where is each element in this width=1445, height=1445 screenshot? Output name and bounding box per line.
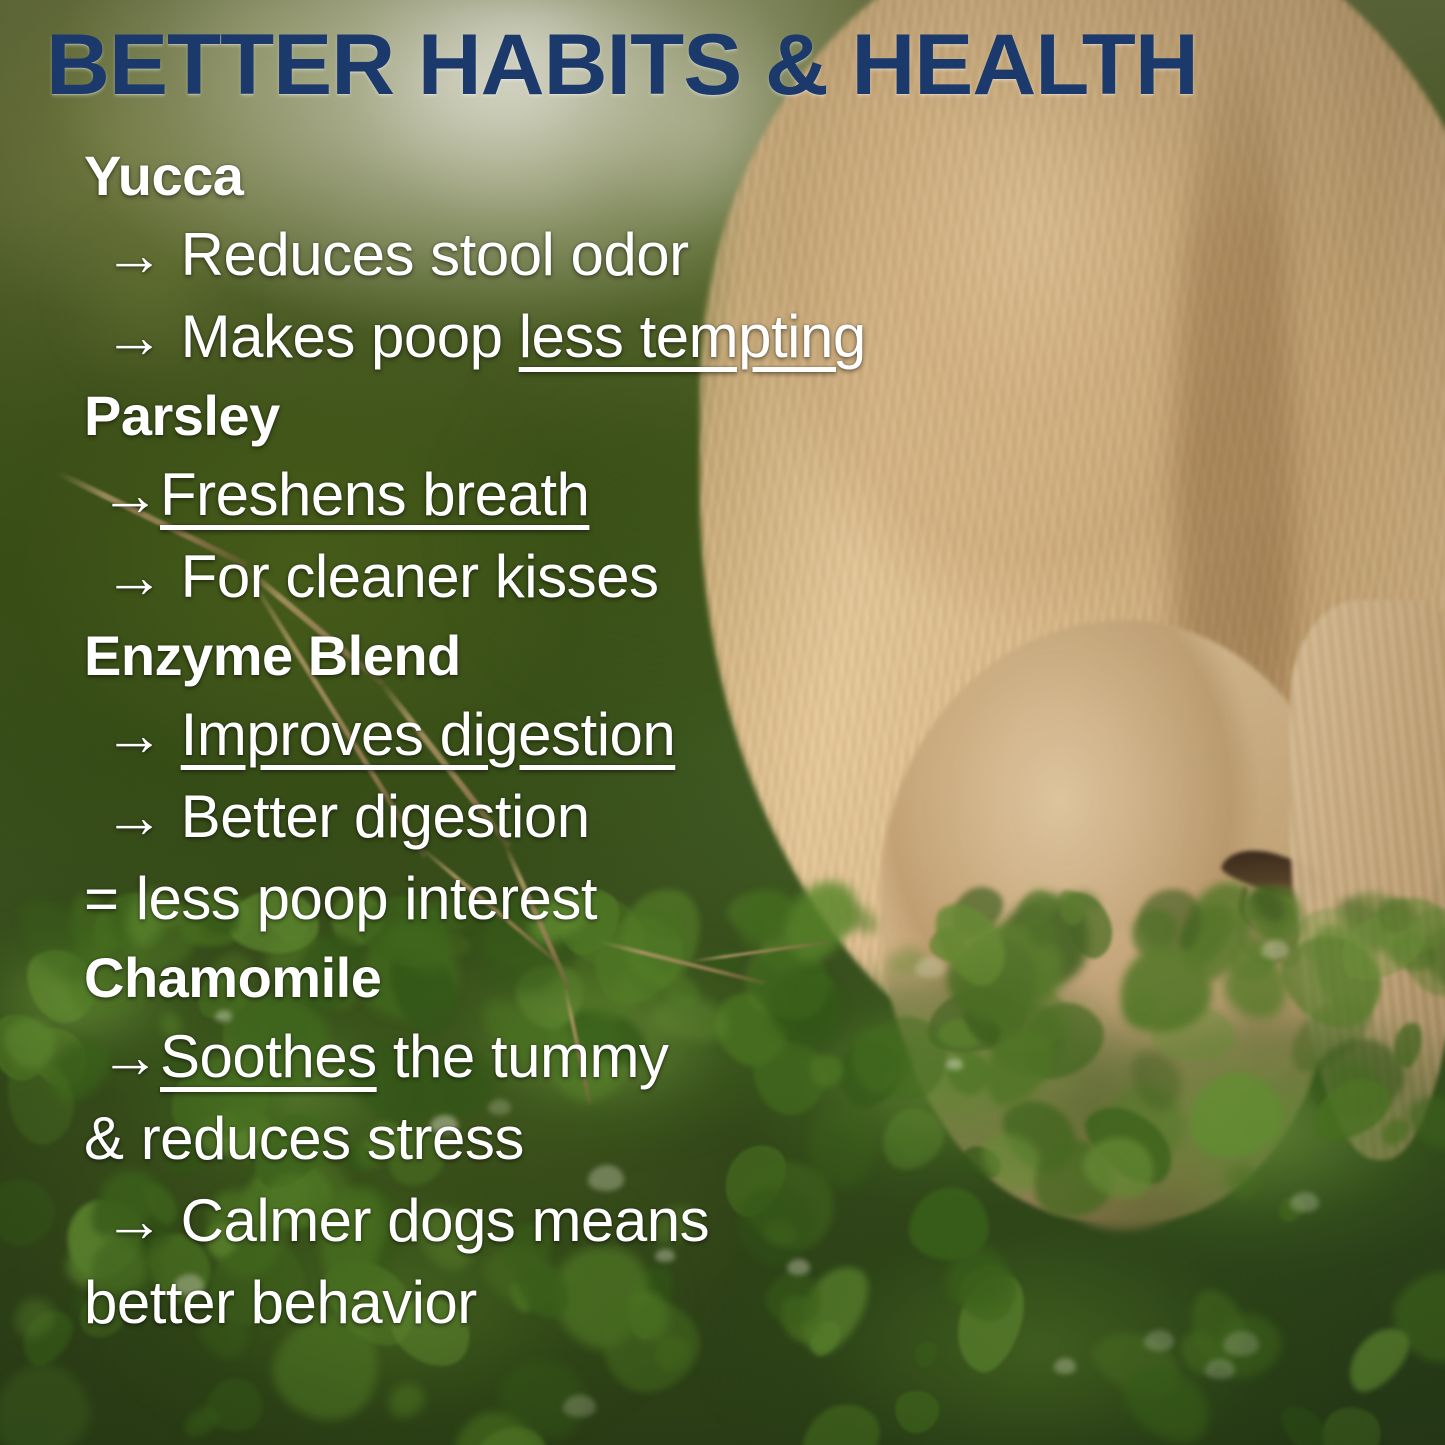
benefit-line: → Reduces stool odor: [0, 214, 1445, 296]
benefit-list: Yucca→ Reduces stool odor→ Makes poop le…: [0, 138, 1445, 1344]
poster-canvas: BETTER HABITS & HEALTH Yucca→ Reduces st…: [0, 0, 1445, 1445]
arrow-icon: →: [104, 221, 181, 288]
line-text: Calmer dogs means: [181, 1187, 709, 1254]
line-text: better behavior: [84, 1269, 477, 1336]
line-text: Better digestion: [181, 783, 590, 850]
arrow-icon: →: [100, 461, 160, 528]
ingredient-heading: Enzyme Blend: [0, 618, 1445, 694]
line-text: Makes poop: [181, 303, 519, 370]
bullet-marker: &: [84, 1105, 141, 1172]
poster-content: BETTER HABITS & HEALTH Yucca→ Reduces st…: [0, 0, 1445, 1445]
line-text-emphasis: Improves digestion: [181, 701, 676, 768]
benefit-line: → Calmer dogs means: [0, 1180, 1445, 1262]
line-text-emphasis: Soothes: [160, 1023, 377, 1090]
line-text-emphasis: less tempting: [519, 303, 866, 370]
benefit-line: = less poop interest: [0, 858, 1445, 940]
ingredient-heading: Chamomile: [0, 940, 1445, 1016]
line-text: reduces stress: [141, 1105, 524, 1172]
ingredient-heading: Parsley: [0, 378, 1445, 454]
arrow-icon: →: [104, 783, 181, 850]
line-text: For cleaner kisses: [181, 543, 659, 610]
line-text: Enzyme Blend: [84, 624, 461, 687]
benefit-line: → Better digestion: [0, 776, 1445, 858]
benefit-line: → Improves digestion: [0, 694, 1445, 776]
bullet-marker: =: [84, 865, 136, 932]
benefit-line: & reduces stress: [0, 1098, 1445, 1180]
arrow-icon: →: [100, 1023, 160, 1090]
benefit-line: better behavior: [0, 1262, 1445, 1344]
line-text: less poop interest: [136, 865, 597, 932]
line-text: Yucca: [84, 144, 243, 207]
arrow-icon: →: [104, 303, 181, 370]
line-text-tail: the tummy: [377, 1023, 669, 1090]
arrow-icon: →: [104, 1187, 181, 1254]
benefit-line: →Freshens breath: [0, 454, 1445, 536]
line-text: Reduces stool odor: [181, 221, 689, 288]
line-text: Chamomile: [84, 946, 381, 1009]
line-text: Parsley: [84, 384, 280, 447]
line-text-emphasis: Freshens breath: [160, 461, 589, 528]
benefit-line: → For cleaner kisses: [0, 536, 1445, 618]
benefit-line: → Makes poop less tempting: [0, 296, 1445, 378]
page-title: BETTER HABITS & HEALTH: [46, 22, 1445, 108]
ingredient-heading: Yucca: [0, 138, 1445, 214]
benefit-line: →Soothes the tummy: [0, 1016, 1445, 1098]
arrow-icon: →: [104, 543, 181, 610]
arrow-icon: →: [104, 701, 181, 768]
